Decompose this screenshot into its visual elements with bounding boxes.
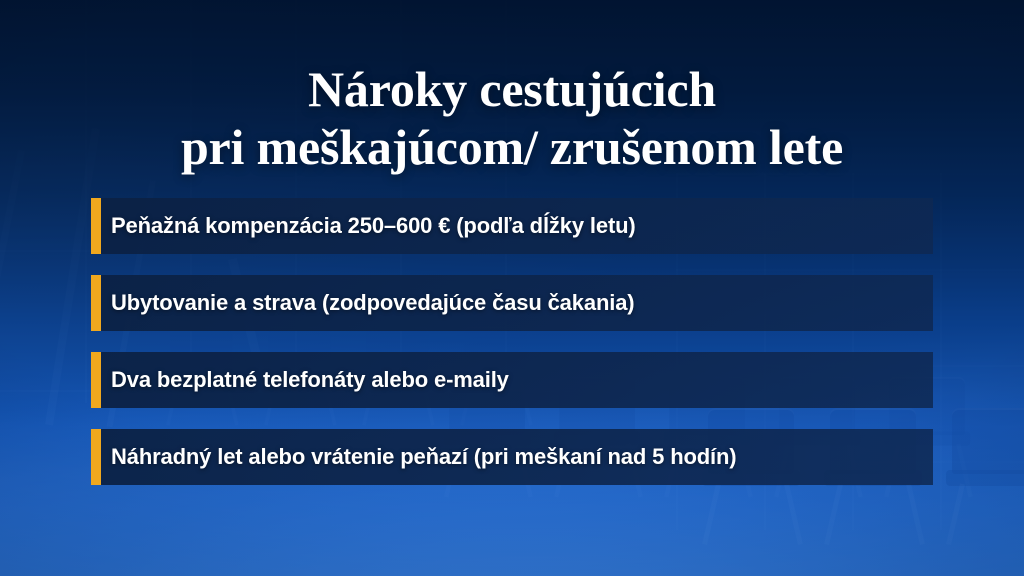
- page-title-line-2: pri meškajúcom/ zrušenom lete: [0, 118, 1024, 177]
- accent-bar-icon: [91, 275, 101, 331]
- page-title: Nároky cestujúcich pri meškajúcom/ zruše…: [0, 60, 1024, 177]
- accent-bar-icon: [91, 429, 101, 485]
- list-item-label: Náhradný let alebo vrátenie peňazí (pri …: [91, 444, 737, 470]
- list-item: Dva bezplatné telefonáty alebo e-maily: [91, 352, 933, 408]
- list-item: Náhradný let alebo vrátenie peňazí (pri …: [91, 429, 933, 485]
- infographic-slide: Nároky cestujúcich pri meškajúcom/ zruše…: [0, 0, 1024, 576]
- page-title-line-1: Nároky cestujúcich: [0, 60, 1024, 119]
- accent-bar-icon: [91, 198, 101, 254]
- list-item-label: Peňažná kompenzácia 250–600 € (podľa dĺž…: [91, 213, 636, 239]
- list-item-label: Dva bezplatné telefonáty alebo e-maily: [91, 367, 509, 393]
- entitlements-list: Peňažná kompenzácia 250–600 € (podľa dĺž…: [91, 198, 933, 485]
- list-item-label: Ubytovanie a strava (zodpovedajúce času …: [91, 290, 634, 316]
- accent-bar-icon: [91, 352, 101, 408]
- list-item: Peňažná kompenzácia 250–600 € (podľa dĺž…: [91, 198, 933, 254]
- list-item: Ubytovanie a strava (zodpovedajúce času …: [91, 275, 933, 331]
